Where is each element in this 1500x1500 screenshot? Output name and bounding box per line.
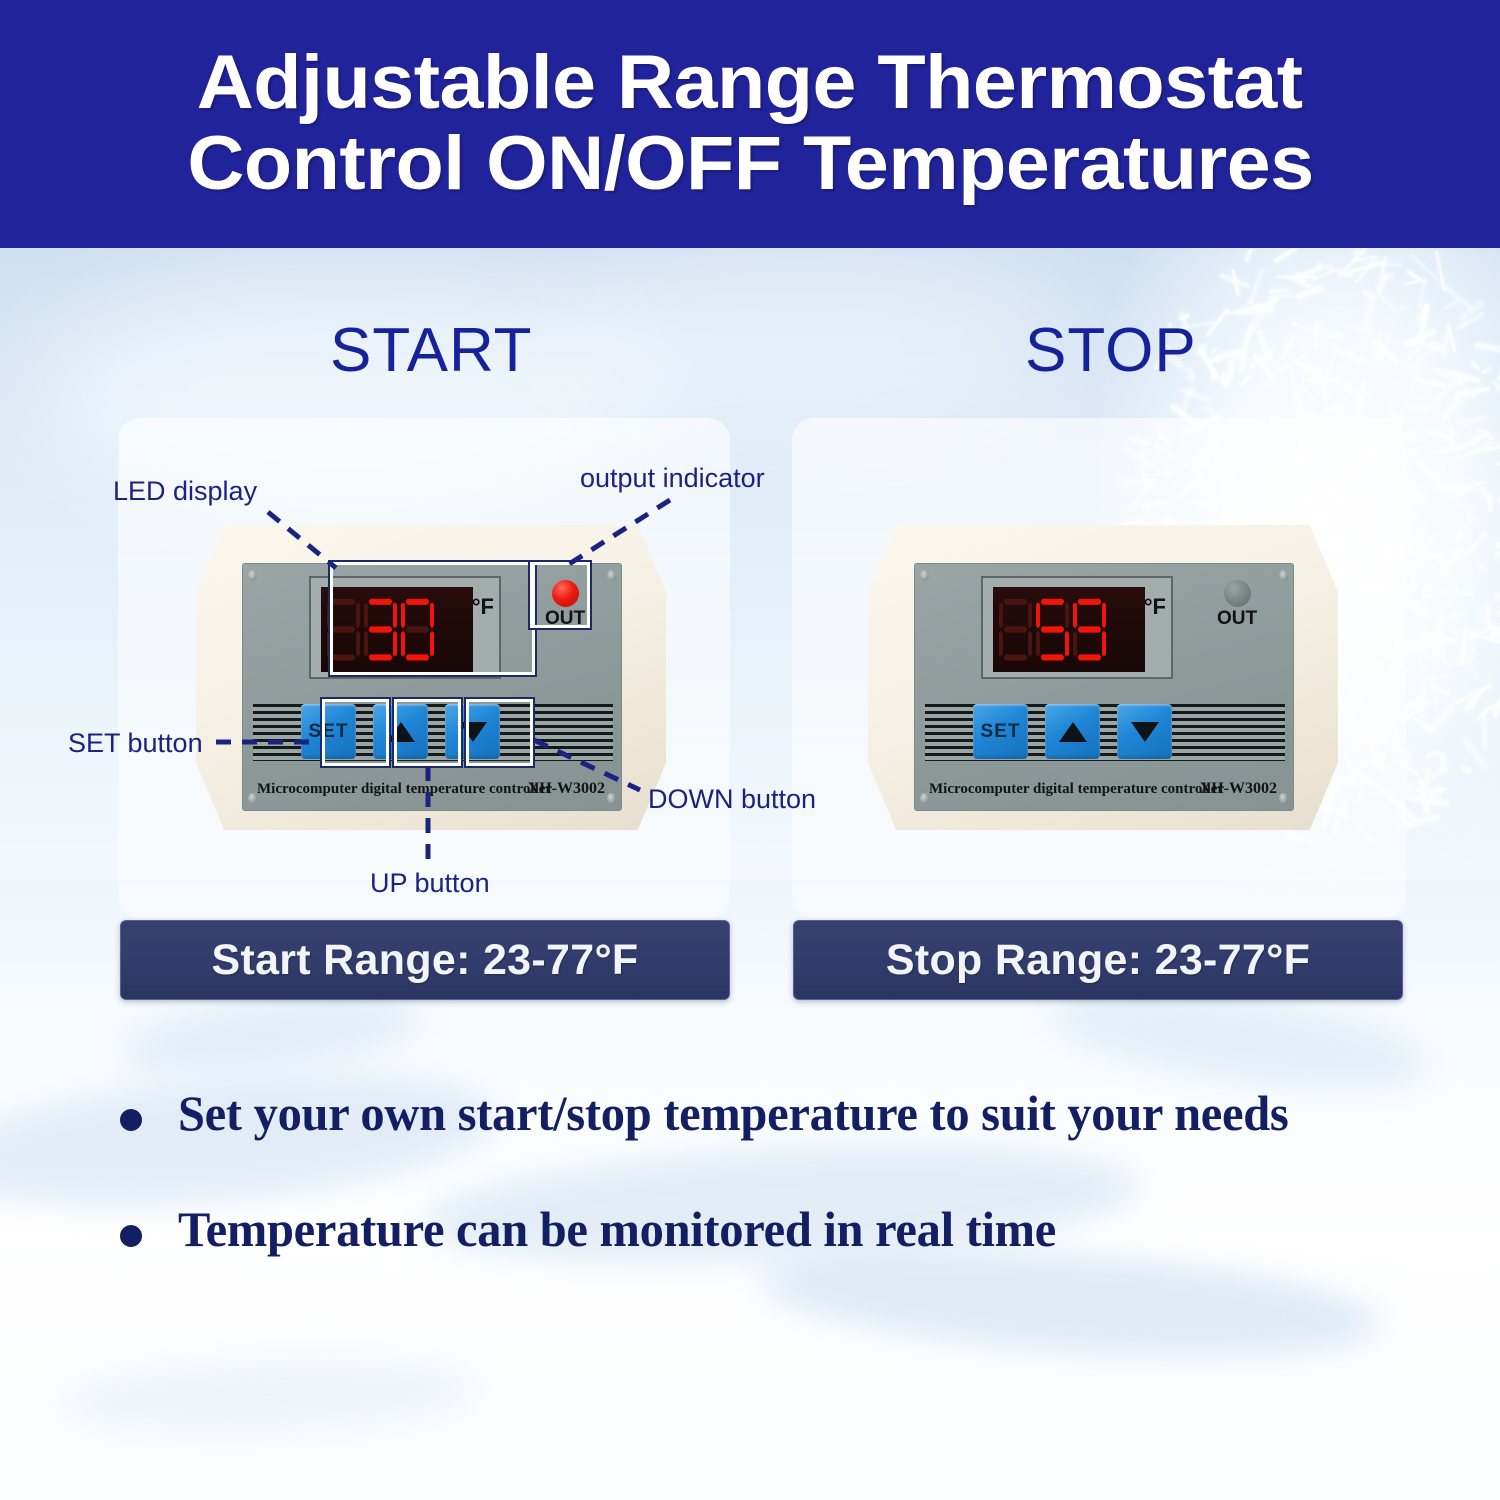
tree-branch (1434, 250, 1445, 290)
bullet-dot-icon (120, 1109, 142, 1131)
device-faceplate: °F OUT SET Microcomputer digital tempera… (242, 563, 622, 811)
tree-branch (1470, 635, 1476, 661)
tree-branch (1263, 379, 1272, 388)
tree-branch (1210, 346, 1221, 355)
led-screen (321, 587, 473, 672)
set-button[interactable]: SET (301, 704, 356, 759)
tree-branch (1300, 343, 1310, 349)
tree-branch (1496, 497, 1500, 529)
tree-branch (1320, 357, 1335, 388)
device-model-text: Microcomputer digital temperature contro… (929, 781, 1224, 798)
thermostat-device-stop: °F OUT SET Microcomputer digital tempera… (868, 525, 1338, 830)
feature-bullet-list: Set your own start/stop temperature to s… (120, 1085, 1460, 1317)
bullet-text: Set your own start/stop temperature to s… (178, 1085, 1289, 1141)
tree-branch (1273, 248, 1298, 264)
tree-branch (1479, 606, 1484, 623)
led-digit-1 (364, 599, 397, 661)
tree-branch (1398, 306, 1408, 309)
tree-branch (1418, 654, 1426, 689)
tree-branch (1435, 445, 1463, 454)
triangle-down-icon (459, 722, 487, 742)
set-button-label: SET (309, 721, 349, 743)
led-digit-2 (1073, 599, 1106, 661)
list-item: Set your own start/stop temperature to s… (120, 1085, 1460, 1141)
tree-branch (1446, 322, 1457, 352)
triangle-up-icon (387, 722, 415, 742)
output-indicator-label: OUT (545, 609, 585, 628)
tree-branch (1444, 285, 1474, 312)
annotation-down-button: DOWN button (648, 784, 816, 815)
banner-line-2: Control ON/OFF Temperatures (187, 124, 1313, 205)
set-button[interactable]: SET (973, 704, 1028, 759)
tree-branch (1243, 249, 1252, 263)
list-item: Temperature can be monitored in real tim… (120, 1201, 1460, 1257)
output-led-icon (552, 580, 579, 607)
screw-icon (920, 570, 929, 581)
up-button[interactable] (1045, 704, 1100, 759)
triangle-down-icon (1131, 722, 1159, 742)
tree-branch (1362, 290, 1375, 301)
tree-branch (1440, 538, 1451, 547)
banner-line-1: Adjustable Range Thermostat (197, 43, 1303, 124)
tree-branch (1381, 295, 1397, 313)
led-digit-blank (999, 599, 1032, 661)
tree-branch (1455, 529, 1466, 542)
led-digit-1 (1036, 599, 1069, 661)
output-indicator: OUT (537, 580, 593, 628)
tree-branch (1266, 303, 1275, 315)
unit-label: °F (1144, 594, 1166, 620)
screw-icon (1279, 570, 1288, 581)
tree-branch (1449, 427, 1454, 449)
led-display: °F (981, 576, 1173, 679)
bullet-dot-icon (120, 1225, 142, 1247)
sky-haze (540, 248, 1060, 438)
annotation-set-button: SET button (68, 728, 203, 759)
device-model-text: Microcomputer digital temperature contro… (257, 781, 552, 798)
led-screen (993, 587, 1145, 672)
tree-branch (1458, 591, 1474, 596)
output-indicator-label: OUT (1217, 609, 1257, 628)
device-model-number: XH-W3002 (1200, 780, 1277, 798)
tree-branch (1474, 342, 1500, 353)
thermostat-device-start: °F OUT SET Microcomputer digital tempera… (196, 525, 666, 830)
led-digits (321, 599, 434, 661)
range-bar-stop-label: Stop Range: 23-77°F (886, 936, 1310, 985)
annotation-output-indicator: output indicator (580, 463, 765, 494)
tree-branch (1249, 268, 1265, 303)
down-button[interactable] (1117, 704, 1172, 759)
snow-drift (59, 1353, 481, 1438)
range-bar-start-label: Start Range: 23-77°F (211, 936, 638, 985)
tree-branch (1447, 609, 1464, 621)
section-title-stop: STOP (1025, 315, 1197, 386)
unit-label: °F (472, 594, 494, 620)
screw-icon (607, 570, 616, 581)
output-led-icon (1224, 580, 1251, 607)
device-model-number: XH-W3002 (528, 780, 605, 798)
tree-branch (1495, 457, 1500, 466)
led-display: °F (309, 576, 501, 679)
screw-icon (607, 793, 616, 804)
tree-branch (1342, 382, 1356, 395)
led-digit-blank (327, 599, 360, 661)
tree-branch (1482, 709, 1487, 748)
device-faceplate: °F OUT SET Microcomputer digital tempera… (914, 563, 1294, 811)
screw-icon (920, 793, 929, 804)
tree-branch (1481, 366, 1492, 375)
tree-branch (1424, 439, 1436, 447)
tree-branch (1488, 496, 1492, 511)
triangle-up-icon (1059, 722, 1087, 742)
tree-branch (1494, 552, 1500, 562)
screw-icon (248, 793, 257, 804)
tree-branch (1427, 704, 1456, 735)
header-banner: Adjustable Range Thermostat Control ON/O… (0, 0, 1500, 248)
led-digit-2 (401, 599, 434, 661)
tree-branch (1330, 343, 1369, 366)
tree-branch (1465, 511, 1475, 522)
annotation-up-button: UP button (370, 868, 490, 899)
tree-branch (1291, 322, 1314, 334)
range-bar-stop: Stop Range: 23-77°F (793, 920, 1403, 1000)
tree-branch (1240, 375, 1252, 386)
range-bar-start: Start Range: 23-77°F (120, 920, 730, 1000)
tree-branch (1415, 393, 1425, 400)
tree-branch (1346, 324, 1374, 335)
tree-branch (1470, 361, 1480, 372)
tree-branch (1460, 765, 1472, 774)
screw-icon (1279, 793, 1288, 804)
tree-branch (1314, 320, 1320, 350)
bullet-text: Temperature can be monitored in real tim… (178, 1201, 1056, 1257)
tree-branch (1355, 378, 1367, 415)
tree-branch (1404, 596, 1431, 620)
output-indicator: OUT (1209, 580, 1265, 628)
screw-icon (248, 570, 257, 581)
tree-branch (1476, 563, 1486, 571)
annotation-led-display: LED display (113, 476, 257, 507)
tree-branch (1280, 336, 1296, 362)
up-button[interactable] (373, 704, 428, 759)
set-button-label: SET (981, 721, 1021, 743)
tree-branch (1423, 582, 1432, 592)
tree-branch (1492, 592, 1500, 601)
section-title-start: START (330, 315, 533, 386)
down-button[interactable] (445, 704, 500, 759)
led-digits (993, 599, 1106, 661)
tree-branch (1434, 684, 1452, 695)
